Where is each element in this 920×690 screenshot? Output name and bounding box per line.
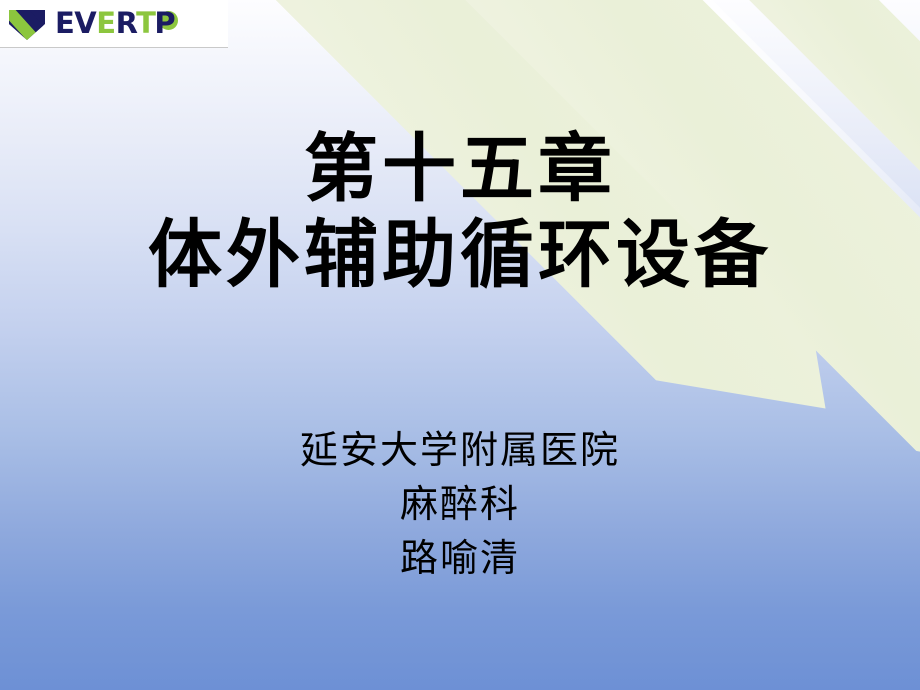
- subtitle-department: 麻醉科: [0, 478, 920, 532]
- presentation-slide: EVERTP 第十五章 体外辅助循环设备 延安大学附属医院 麻醉科 路喻清: [0, 0, 920, 690]
- logo-letter-p: P: [154, 6, 175, 40]
- logo-header-bar: EVERTP: [0, 0, 228, 48]
- subtitle-institution: 延安大学附属医院: [0, 424, 920, 478]
- evertp-logo-wordmark: EVERTP: [55, 9, 175, 38]
- evertp-logo: EVERTP: [6, 7, 175, 41]
- logo-letters-ev: EV: [55, 6, 96, 40]
- subtitle-presenter: 路喻清: [0, 532, 920, 586]
- title-line-2: 体外辅助循环设备: [0, 216, 920, 296]
- background-decoration: [0, 0, 920, 690]
- evertp-diamond-logo-icon: [6, 7, 48, 41]
- logo-letter-e2: E: [96, 6, 115, 40]
- logo-letter-t: T: [136, 6, 155, 40]
- slide-title: 第十五章 体外辅助循环设备: [0, 130, 920, 296]
- title-line-1: 第十五章: [0, 130, 920, 210]
- logo-letter-r: R: [116, 6, 137, 40]
- slide-subtitle: 延安大学附属医院 麻醉科 路喻清: [0, 424, 920, 586]
- logo-letter-p-group: P: [154, 9, 175, 38]
